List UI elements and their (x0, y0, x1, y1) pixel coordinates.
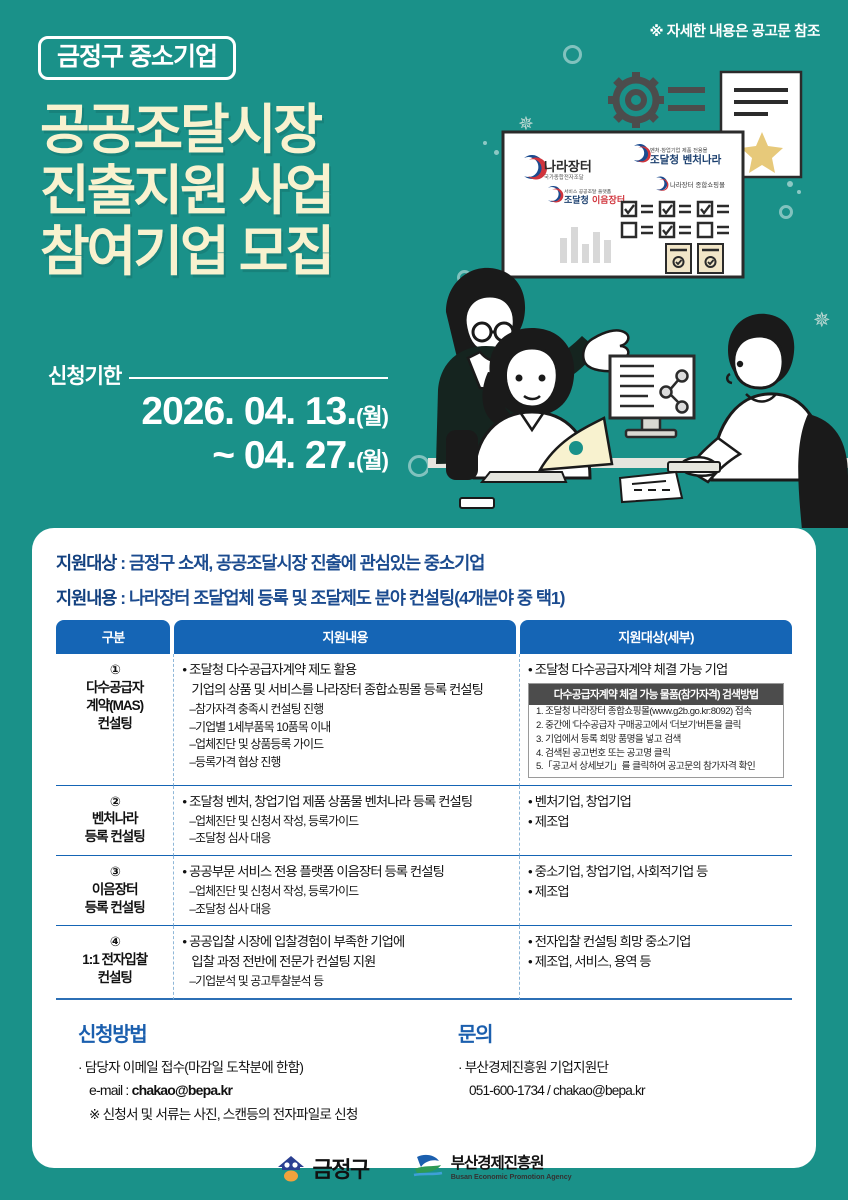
infobox-item: 2. 중간에 '다수공급자 구매공고에서 '더보기'버튼을 클릭 (529, 719, 783, 733)
deadline-date-end-day: (월) (356, 448, 388, 473)
content-continuation: 입찰 과정 전반에 전문가 컨설팅 지원 (182, 953, 511, 972)
table-row: ① 다수공급자계약(MAS)컨설팅 조달청 다수공급자계약 제도 활용 기업의 … (56, 654, 792, 786)
apply-email-label: e-mail : (89, 1082, 132, 1098)
row-category-label-3: 이음장터등록 컨설팅 (85, 882, 145, 915)
target-bullet: 벤처기업, 창업기업 (528, 793, 784, 812)
contact-column: 문의 · 부산경제진흥원 기업지원단 051-600-1734 / chakao… (424, 1018, 792, 1126)
column-header-content: 지원내용 (174, 620, 516, 654)
target-bullet: 전자입찰 컨설팅 희망 중소기업 (528, 933, 784, 952)
search-method-infobox: 다수공급자계약 체결 가능 물품(참가자격) 검색방법 1. 조달청 나라장터 … (528, 683, 784, 778)
table-row: ④ 1:1 전자입찰컨설팅 공공입찰 시장에 입찰경험이 부족한 기업에 입찰 … (56, 926, 792, 1000)
row-category-label-1: 다수공급자계약(MAS)컨설팅 (86, 680, 143, 731)
deadline-date-end: ~ 04. 27.(월) (48, 434, 388, 478)
content-sub: 업체진단 및 신청서 작성, 등록가이드 (182, 813, 511, 830)
support-programs-table: 구분 지원내용 지원대상(세부) ① 다수공급자계약(MAS)컨설팅 조달청 다… (56, 620, 792, 1000)
hero-title: 공공조달시장 진출지원 사업 참여기업 모집 (40, 100, 332, 283)
row-category-label-4: 1:1 전자입찰컨설팅 (82, 952, 147, 985)
row-content-2: 조달청 벤처, 창업기업 제품 상품물 벤처나라 등록 컨설팅 업체진단 및 신… (174, 786, 520, 856)
gear-icon (608, 72, 705, 128)
target-bullet: 중소기업, 창업기업, 사회적기업 등 (528, 863, 784, 882)
table-header-row: 구분 지원내용 지원대상(세부) (56, 620, 792, 654)
row-target-4: 전자입찰 컨설팅 희망 중소기업 제조업, 서비스, 용역 등 (520, 926, 792, 1000)
target-bullet: 제조업 (528, 883, 784, 902)
infobox-item: 4. 검색된 공고번호 또는 공고명 클릭 (529, 746, 783, 760)
support-target-text: : 금정구 소재, 공공조달시장 진출에 관심있는 중소기업 (116, 553, 484, 573)
target-bullet: 제조업, 서비스, 용역 등 (528, 953, 784, 972)
hero-badge: 금정구 중소기업 (38, 36, 236, 80)
content-sub: 기업분석 및 공고투찰분석 등 (182, 973, 511, 990)
content-bullet: 조달청 벤처, 창업기업 제품 상품물 벤처나라 등록 컨설팅 (182, 793, 511, 812)
apply-method-line-1: · 담당자 이메일 접수(마감일 도착분에 한함) (78, 1056, 424, 1079)
svg-text:조달청 이음장터: 조달청 이음장터 (564, 194, 625, 206)
apply-email-line: e-mail : chakao@bepa.kr (78, 1079, 424, 1103)
geumjeong-mark-icon (276, 1154, 306, 1182)
infobox-item: 3. 기업에서 등록 희망 품명을 넣고 검색 (529, 732, 783, 746)
ring-decoration (408, 455, 430, 477)
svg-text:나라장터 종합쇼핑몰: 나라장터 종합쇼핑몰 (670, 180, 725, 189)
contact-phone-email: 051-600-1734 / chakao@bepa.kr (458, 1079, 792, 1102)
svg-text:나라장터: 나라장터 (544, 159, 592, 175)
content-sub: 기업별 1세부품목 10품목 이내 (182, 719, 511, 736)
content-card: 지원대상 : 금정구 소재, 공공조달시장 진출에 관심있는 중소기업 지원내용… (32, 528, 816, 1168)
row-category-label-2: 벤처나라등록 컨설팅 (85, 811, 145, 844)
bepa-labels: 부산경제진흥원 Busan Economic Promotion Agency (451, 1156, 572, 1181)
deadline-rule (129, 377, 388, 379)
content-bullet: 공공부문 서비스 전용 플랫폼 이음장터 등록 컨설팅 (182, 863, 511, 882)
row-content-1: 조달청 다수공급자계약 제도 활용 기업의 상품 및 서비스를 나라장터 종합쇼… (174, 654, 520, 786)
table-row: ② 벤처나라등록 컨설팅 조달청 벤처, 창업기업 제품 상품물 벤처나라 등록… (56, 786, 792, 856)
bepa-korean-name: 부산경제진흥원 (451, 1156, 572, 1172)
deadline-date-end-value: ~ 04. 27. (212, 434, 356, 477)
card-footer: 신청방법 · 담당자 이메일 접수(마감일 도착분에 한함) e-mail : … (56, 1018, 792, 1126)
support-target-label: 지원대상 (56, 553, 116, 573)
content-sub: 조달청 심사 대응 (182, 901, 511, 918)
infobox-title: 다수공급자계약 체결 가능 물품(참가자격) 검색방법 (529, 684, 783, 705)
row-target-3: 중소기업, 창업기업, 사회적기업 등 제조업 (520, 856, 792, 926)
row-category-2: ② 벤처나라등록 컨설팅 (56, 786, 174, 856)
support-content-text: : 나라장터 조달업체 등록 및 조달제도 분야 컨설팅(4개분야 중 택1) (116, 588, 564, 608)
row-number-2: ② (64, 793, 165, 811)
content-sub: 조달청 심사 대응 (182, 830, 511, 847)
office-illustration: 나라장터 국가종합전자조달 벤처·창업기업 제품 전용몰 조달청 벤처나라 나라… (428, 60, 848, 528)
row-category-4: ④ 1:1 전자입찰컨설팅 (56, 926, 174, 1000)
infobox-item: 1. 조달청 나라장터 종합쇼핑몰(www.g2b.go.kr:8092) 접속 (529, 705, 783, 719)
apply-method-column: 신청방법 · 담당자 이메일 접수(마감일 도착분에 한함) e-mail : … (56, 1018, 424, 1126)
row-target-2: 벤처기업, 창업기업 제조업 (520, 786, 792, 856)
row-content-4: 공공입찰 시장에 입찰경험이 부족한 기업에 입찰 과정 전반에 전문가 컨설팅… (174, 926, 520, 1000)
apply-method-note: ※ 신청서 및 서류는 사진, 스캔등의 전자파일로 신청 (78, 1103, 424, 1126)
row-category-1: ① 다수공급자계약(MAS)컨설팅 (56, 654, 174, 786)
row-number-3: ③ (64, 863, 165, 881)
svg-text:벤처·창업기업 제품 전용몰: 벤처·창업기업 제품 전용몰 (650, 146, 708, 154)
hero-title-line-3: 참여기업 모집 (40, 222, 332, 283)
deadline-label-row: 신청기한 (48, 360, 388, 390)
content-continuation: 기업의 상품 및 서비스를 나라장터 종합쇼핑몰 등록 컨설팅 (182, 681, 511, 700)
deadline-date-start-day: (월) (356, 404, 388, 429)
apply-method-heading: 신청방법 (78, 1018, 424, 1047)
support-target-lead: 지원대상 : 금정구 소재, 공공조달시장 진출에 관심있는 중소기업 (56, 550, 792, 575)
geumjeong-gu-label: 금정구 (312, 1152, 368, 1184)
row-category-3: ③ 이음장터등록 컨설팅 (56, 856, 174, 926)
target-bullet: 제조업 (528, 813, 784, 832)
infobox-item: 5.「공고서 상세보기」를 클릭하여 공고문의 참가자격 확인 (529, 760, 783, 774)
table-body: ① 다수공급자계약(MAS)컨설팅 조달청 다수공급자계약 제도 활용 기업의 … (56, 654, 792, 1000)
row-number-1: ① (64, 661, 165, 679)
poster-hero: ✵ ✵ ✵ ※ 자세한 내용은 공고문 참조 금정구 중소기업 공공조달시장 진… (0, 0, 848, 528)
svg-text:조달청 벤처나라: 조달청 벤처나라 (650, 153, 722, 166)
content-bullet: 조달청 다수공급자계약 제도 활용 (182, 661, 511, 680)
deadline-date-start-value: 2026. 04. 13. (141, 390, 356, 433)
desktop-monitor (610, 356, 694, 437)
hero-title-line-1: 공공조달시장 (40, 100, 332, 161)
contact-org: · 부산경제진흥원 기업지원단 (458, 1056, 792, 1079)
contact-heading: 문의 (458, 1018, 792, 1047)
bepa-mark-icon (411, 1153, 445, 1183)
hero-note: ※ 자세한 내용은 공고문 참조 (649, 20, 820, 41)
bepa-logo: 부산경제진흥원 Busan Economic Promotion Agency (411, 1153, 572, 1183)
footer-logos: 금정구 부산경제진흥원 Busan Economic Promotion Age… (56, 1152, 792, 1184)
column-header-target: 지원대상(세부) (520, 620, 792, 654)
column-header-category: 구분 (56, 620, 170, 654)
deadline-date-start: 2026. 04. 13.(월) (48, 390, 388, 434)
support-content-lead: 지원내용 : 나라장터 조달업체 등록 및 조달제도 분야 컨설팅(4개분야 중… (56, 585, 792, 610)
content-sub: 업체진단 및 상품등록 가이드 (182, 736, 511, 753)
row-content-3: 공공부문 서비스 전용 플랫폼 이음장터 등록 컨설팅 업체진단 및 신청서 작… (174, 856, 520, 926)
geumjeong-gu-logo: 금정구 (276, 1152, 368, 1184)
row-number-4: ④ (64, 933, 165, 951)
svg-text:국가종합전자조달: 국가종합전자조달 (544, 173, 584, 181)
content-sub: 참가자격 충족시 컨설팅 진행 (182, 701, 511, 718)
presentation-board: 나라장터 국가종합전자조달 벤처·창업기업 제품 전용몰 조달청 벤처나라 나라… (503, 132, 743, 277)
deadline-label: 신청기한 (48, 360, 121, 390)
content-bullet: 공공입찰 시장에 입찰경험이 부족한 기업에 (182, 933, 511, 952)
support-content-label: 지원내용 (56, 588, 116, 608)
deadline-block: 신청기한 2026. 04. 13.(월) ~ 04. 27.(월) (48, 360, 388, 477)
content-sub: 등록가격 협상 진행 (182, 754, 511, 771)
bepa-english-name: Busan Economic Promotion Agency (451, 1173, 572, 1180)
svg-text:서비스 공공조달 플랫폼: 서비스 공공조달 플랫폼 (564, 188, 612, 195)
apply-email-value: chakao@bepa.kr (132, 1082, 233, 1098)
content-sub: 업체진단 및 신청서 작성, 등록가이드 (182, 883, 511, 900)
table-row: ③ 이음장터등록 컨설팅 공공부문 서비스 전용 플랫폼 이음장터 등록 컨설팅… (56, 856, 792, 926)
target-bullet: 조달청 다수공급자계약 체결 가능 기업 (528, 661, 784, 680)
row-target-1: 조달청 다수공급자계약 체결 가능 기업 다수공급자계약 체결 가능 물품(참가… (520, 654, 792, 786)
hero-title-line-2: 진출지원 사업 (40, 161, 332, 222)
